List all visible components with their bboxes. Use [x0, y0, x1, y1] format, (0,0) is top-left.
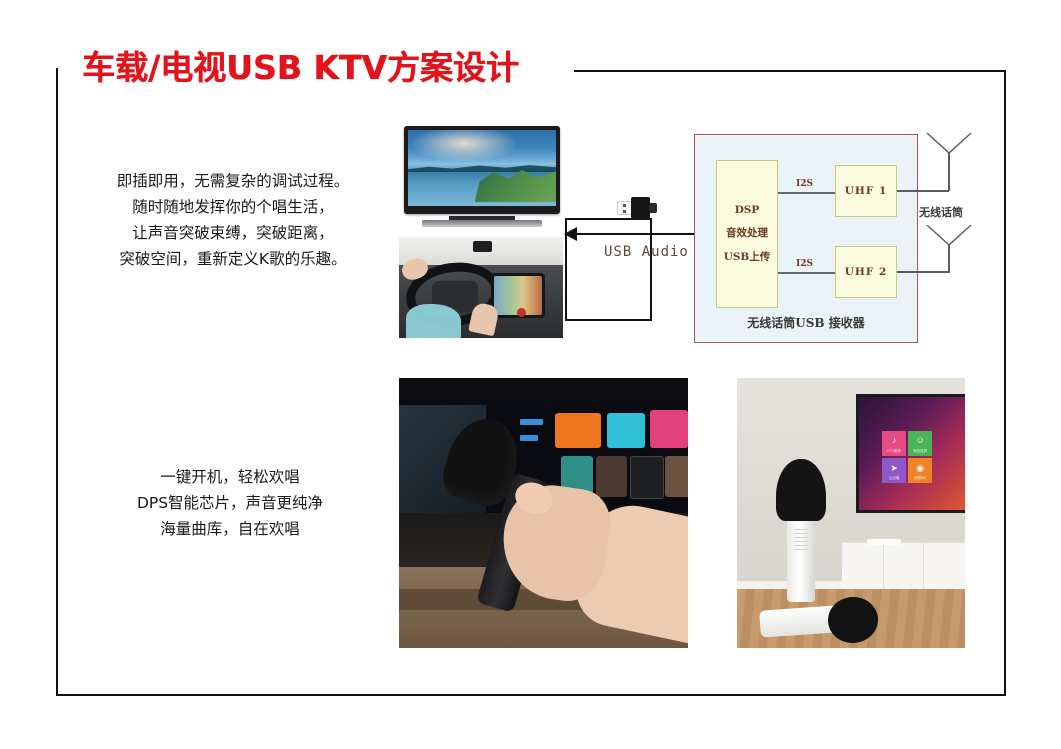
usb-connector-icon [617, 197, 657, 219]
car-display-tile [665, 456, 688, 497]
eye-icon: ◉ [916, 463, 924, 474]
tv-app-tile: ➤ 云点播 [882, 458, 906, 483]
tv-app-tile: ☺ 微信投屏 [908, 431, 932, 456]
driver-arm [406, 304, 462, 338]
car-display-text-line [520, 435, 537, 442]
i2s-bus-line-1 [778, 192, 835, 194]
microphone-control-buttons [794, 529, 808, 551]
tv-app-tile: ◉ 视频MV [908, 458, 932, 483]
dsp-label-2: 音效处理 [726, 225, 768, 240]
tv-bezel [404, 126, 560, 214]
living-room-microphones-tv-photo: ♪ KTV歌库 ☺ 微信投屏 ➤ 云点播 ◉ 视频MV [737, 378, 965, 648]
receiver-label: 无线话筒USB 接收器 [694, 314, 918, 331]
car-display-tile [650, 410, 688, 448]
intro-line-3: 让声音突破束缚，突破距离， [78, 220, 388, 246]
usb-audio-label: USB Audio [604, 244, 689, 260]
dsp-block: DSP 音效处理 USB上传 [716, 160, 778, 308]
uhf2-label: UHF 2 [845, 266, 888, 278]
wall-mounted-tv: ♪ KTV歌库 ☺ 微信投屏 ➤ 云点播 ◉ 视频MV [856, 394, 965, 513]
tv-stand-base [422, 220, 542, 227]
diagram-output-line [665, 233, 696, 235]
tv-screen [408, 130, 556, 206]
uhf1-label: UHF 1 [845, 185, 888, 197]
antenna-stem [948, 153, 950, 177]
antenna-triangle-inner [928, 133, 970, 152]
intro-line-4: 突破空间，重新定义K歌的乐趣。 [78, 246, 388, 272]
car-display-tile [630, 456, 664, 499]
feature-line-1: 一键开机，轻松欢唱 [80, 464, 380, 490]
usb-contact-dot [623, 210, 626, 213]
arrow-left-icon [564, 227, 577, 241]
frame-border-left [56, 68, 58, 696]
slide-canvas: 车载/电视USB KTV方案设计 即插即用，无需复杂的调试过程。 随时随地发挥你… [0, 0, 1061, 749]
car-display-tile [607, 413, 645, 448]
microphone-foam-head-standing [776, 459, 826, 521]
dsp-label-3: USB上传 [724, 249, 771, 264]
intro-line-2: 随时随地发挥你的个唱生活， [78, 194, 388, 220]
tv-app-tile-label: 云点播 [889, 476, 900, 481]
music-note-icon: ♪ [892, 435, 897, 445]
cabinet-seam [883, 543, 884, 589]
i2s-bus-line-2 [778, 272, 835, 274]
feature-line-3: 海量曲库，自在欢唱 [80, 516, 380, 542]
frame-border-right [1004, 70, 1006, 696]
intro-line-1: 即插即用，无需复杂的调试过程。 [78, 168, 388, 194]
uhf2-antenna-wire [897, 271, 949, 273]
i2s-bus-label-1: I2S [796, 179, 813, 189]
tv-app-tile-label: 视频MV [914, 476, 926, 481]
antenna-icon [926, 133, 972, 177]
flat-screen-tv-photo [399, 124, 565, 231]
car-screen-record-button [517, 308, 526, 317]
car-dashcam-icon [473, 241, 493, 252]
feature-line-2: DPS智能芯片，声音更纯净 [80, 490, 380, 516]
dsp-label-1: DSP [735, 204, 760, 216]
antenna-icon [926, 225, 972, 269]
tv-app-tile-label: 微信投屏 [913, 449, 927, 454]
car-display-tile [596, 456, 628, 497]
microphone-body-lying [759, 605, 838, 637]
usb-plug-body [631, 197, 650, 219]
car-dashboard-photo [399, 237, 563, 338]
hand-holding-microphone-in-car-photo [399, 378, 688, 648]
uhf2-antenna-wire-vertical [948, 269, 950, 273]
car-display-text-line [520, 419, 543, 426]
usb-cable-tail [649, 203, 657, 213]
bracket-bottom-edge [565, 319, 652, 321]
uhf1-antenna-wire [897, 190, 949, 192]
page-title: 车载/电视USB KTV方案设计 [82, 41, 519, 89]
i2s-bus-label-2: I2S [796, 259, 813, 269]
tv-cabinet [842, 542, 965, 589]
wireless-microphone-label: 无线话筒 [919, 204, 963, 220]
intro-paragraph: 即插即用，无需复杂的调试过程。 随时随地发挥你的个唱生活， 让声音突破束缚，突破… [78, 168, 388, 272]
tv-remote [867, 539, 901, 546]
uhf1-antenna-wire-vertical [948, 177, 950, 191]
frame-border-top [574, 70, 1006, 72]
uhf2-block: UHF 2 [835, 246, 897, 298]
tv-app-tile-label: KTV歌库 [887, 449, 901, 454]
cabinet-seam [923, 543, 924, 589]
smiley-icon: ☺ [915, 435, 924, 445]
frame-border-bottom [56, 694, 1006, 696]
uhf1-block: UHF 1 [835, 165, 897, 217]
antenna-triangle-inner [928, 225, 970, 244]
tv-app-tile: ♪ KTV歌库 [882, 431, 906, 456]
car-display-tile [555, 413, 601, 448]
paper-plane-icon: ➤ [890, 463, 898, 474]
features-paragraph: 一键开机，轻松欢唱 DPS智能芯片，声音更纯净 海量曲库，自在欢唱 [80, 464, 380, 542]
usb-contact-dot [623, 204, 626, 207]
antenna-stem [948, 245, 950, 269]
